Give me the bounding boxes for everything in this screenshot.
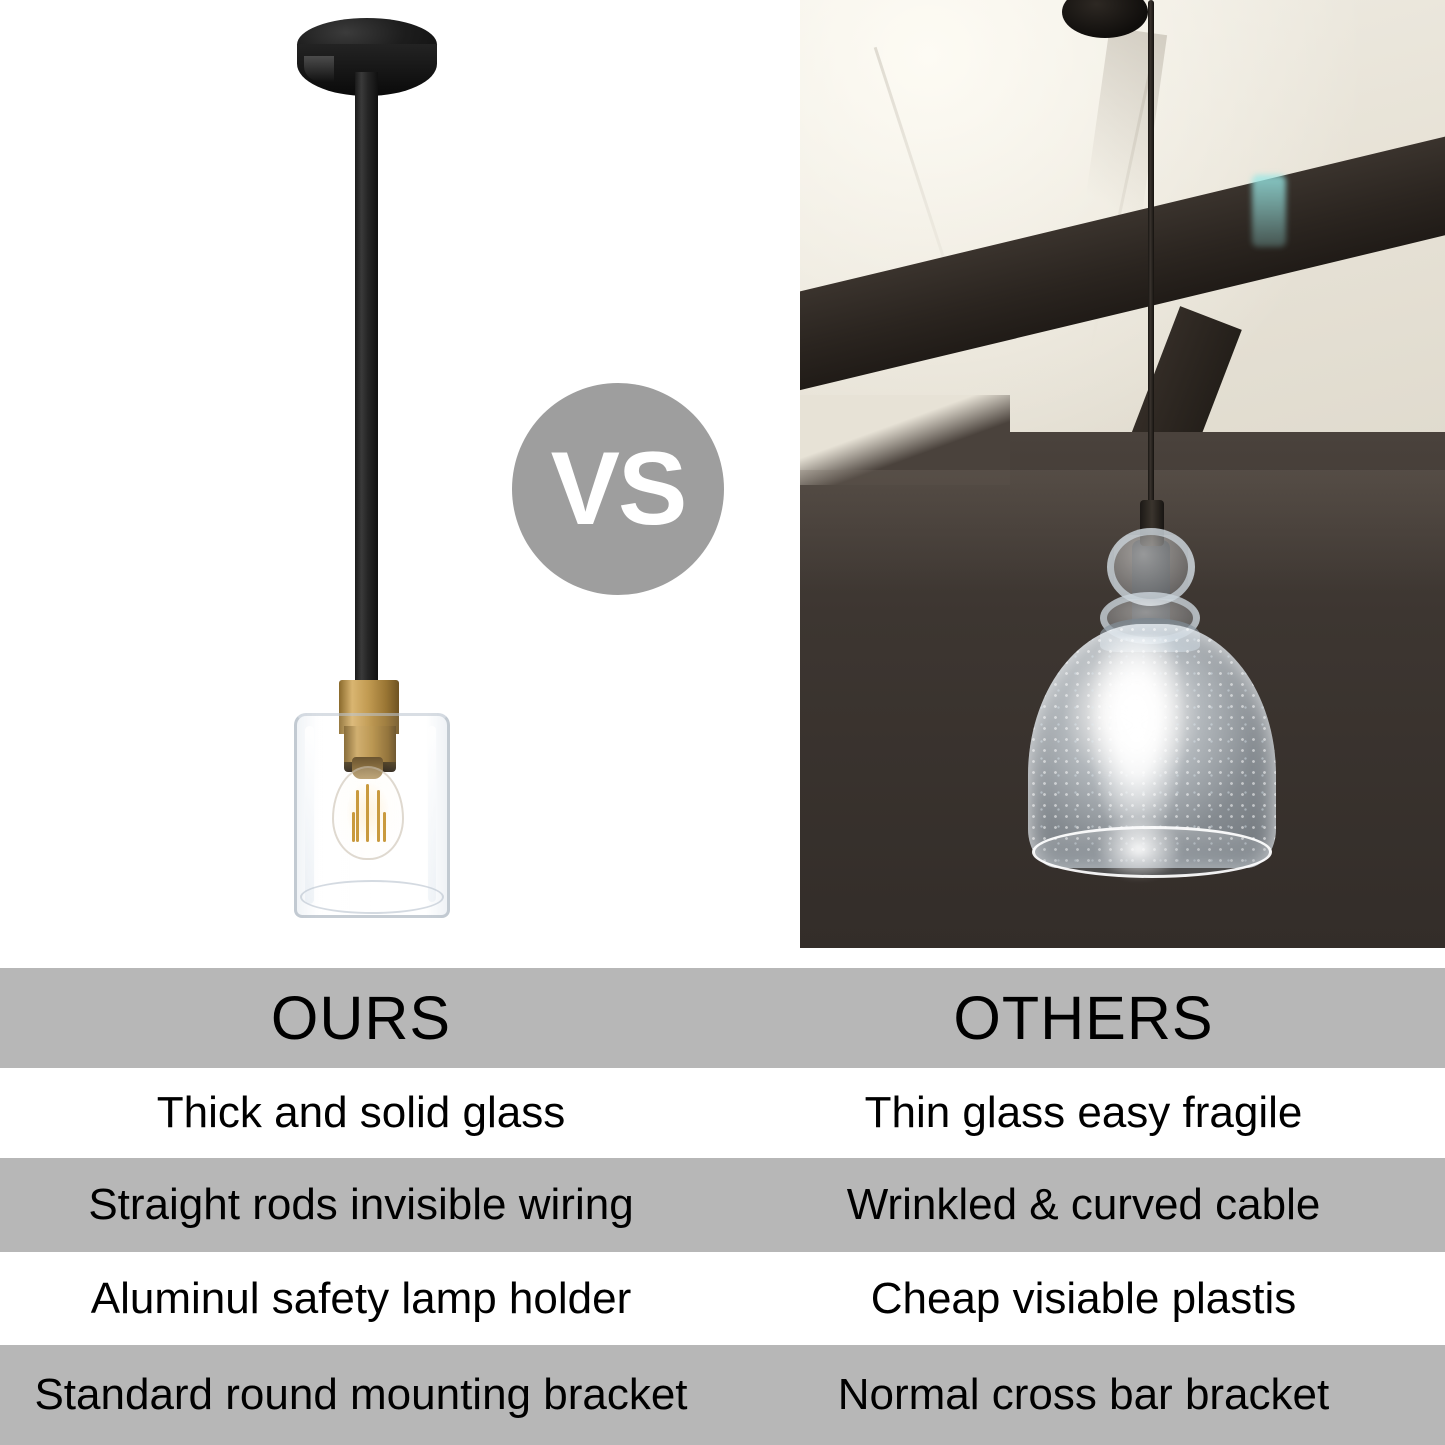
product-comparison-image: VS bbox=[0, 0, 1445, 1445]
others-feature-2: Wrinkled & curved cable bbox=[722, 1158, 1445, 1252]
glass-highlight-right bbox=[428, 726, 436, 902]
pendant-rod bbox=[355, 72, 378, 690]
table-row: Standard round mounting bracket Normal c… bbox=[0, 1345, 1445, 1445]
filament-strand bbox=[383, 812, 386, 842]
ours-feature-4: Standard round mounting bracket bbox=[0, 1345, 722, 1445]
table-row: Thick and solid glass Thin glass easy fr… bbox=[0, 1068, 1445, 1158]
ours-feature-1: Thick and solid glass bbox=[0, 1068, 722, 1158]
filament-strand bbox=[366, 784, 369, 842]
hanging-cord bbox=[1148, 0, 1154, 520]
glass-shade-bottom-rim bbox=[300, 880, 444, 914]
others-feature-1: Thin glass easy fragile bbox=[722, 1068, 1445, 1158]
bulb-inner-glow bbox=[1096, 818, 1182, 880]
header-others: OTHERS bbox=[722, 968, 1445, 1068]
others-lifestyle-photo bbox=[800, 0, 1445, 948]
vs-badge: VS bbox=[512, 383, 724, 595]
teal-light-reflection bbox=[1252, 175, 1286, 247]
light-hotspot bbox=[1088, 636, 1186, 848]
filament-strand bbox=[352, 812, 355, 842]
comparison-table: OURS OTHERS Thick and solid glass Thin g… bbox=[0, 958, 1445, 1445]
table-row: Straight rods invisible wiring Wrinkled … bbox=[0, 1158, 1445, 1252]
glass-highlight-left bbox=[305, 726, 314, 904]
table-header-row: OURS OTHERS bbox=[0, 968, 1445, 1068]
others-feature-4: Normal cross bar bracket bbox=[722, 1345, 1445, 1445]
ours-feature-3: Aluminul safety lamp holder bbox=[0, 1252, 722, 1345]
filament-strand bbox=[377, 790, 380, 842]
header-ours: OURS bbox=[0, 968, 722, 1068]
others-feature-3: Cheap visiable plastis bbox=[722, 1252, 1445, 1345]
comparison-hero: VS bbox=[0, 0, 1445, 958]
ours-feature-2: Straight rods invisible wiring bbox=[0, 1158, 722, 1252]
vs-label: VS bbox=[551, 437, 686, 541]
filament-strand bbox=[356, 790, 359, 842]
table-row: Aluminul safety lamp holder Cheap visiab… bbox=[0, 1252, 1445, 1345]
